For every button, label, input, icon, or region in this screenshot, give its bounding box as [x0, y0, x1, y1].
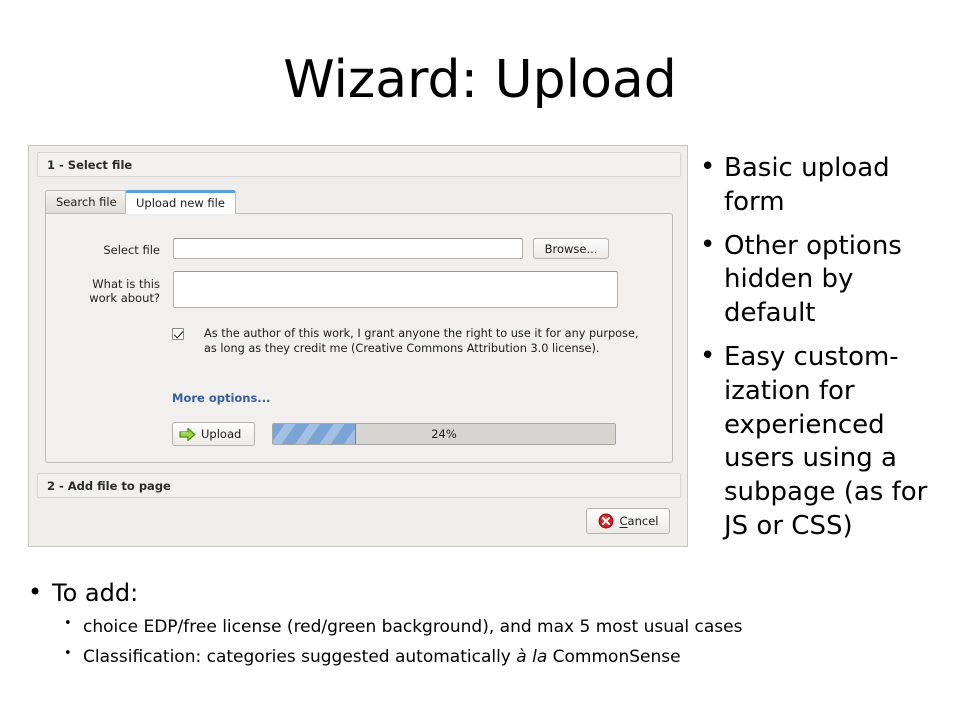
work-about-input[interactable]	[173, 271, 618, 308]
upload-wizard-dialog: 1 - Select file Search file Upload new f…	[28, 145, 688, 547]
more-options-link[interactable]: More options...	[172, 391, 270, 405]
select-file-row: Select file Browse...	[60, 238, 660, 259]
tab-upload-new-file[interactable]: Upload new file	[125, 190, 236, 214]
list-item: Other options hidden by default	[694, 230, 950, 331]
work-about-row: What is this work about?	[60, 271, 660, 308]
right-bullet-list: Basic upload form Other options hidden b…	[694, 152, 950, 554]
cancel-close-icon	[598, 513, 614, 529]
upload-button-label: Upload	[201, 427, 241, 441]
to-add-heading: To add:	[52, 579, 138, 607]
upload-row: Upload 24%	[172, 422, 616, 446]
to-add-sublist: choice EDP/free license (red/green backg…	[52, 616, 942, 669]
license-agreement-row: As the author of this work, I grant anyo…	[172, 326, 642, 356]
work-about-label-line2: work about?	[60, 291, 160, 305]
list-item: Easy custom-ization for experienced user…	[694, 341, 950, 544]
upload-new-file-panel: Select file Browse... What is this work …	[45, 213, 673, 463]
select-file-input[interactable]	[173, 238, 523, 259]
work-about-label-line1: What is this	[60, 277, 160, 291]
select-file-label: Select file	[60, 238, 160, 257]
list-item: Classification: categories suggested aut…	[52, 646, 942, 669]
cancel-button-label: Cancel	[620, 514, 659, 528]
upload-button[interactable]: Upload	[172, 422, 255, 446]
sub-item-1-italic: à la	[516, 647, 547, 667]
sub-item-1-pre: Classification: categories suggested aut…	[83, 647, 516, 667]
browse-button[interactable]: Browse...	[533, 238, 609, 259]
cancel-rest-letters: ancel	[628, 514, 659, 528]
license-checkbox[interactable]	[172, 328, 184, 340]
upload-arrow-icon	[179, 427, 196, 442]
list-item: choice EDP/free license (red/green backg…	[52, 616, 942, 639]
to-add-heading-item: To add: choice EDP/free license (red/gre…	[22, 578, 942, 669]
to-add-list: To add: choice EDP/free license (red/gre…	[22, 578, 942, 669]
list-item: Basic upload form	[694, 152, 950, 220]
tab-search-file[interactable]: Search file	[45, 190, 128, 214]
bottom-bullet-section: To add: choice EDP/free license (red/gre…	[22, 578, 942, 676]
work-about-label: What is this work about?	[60, 271, 160, 305]
sub-item-1-post: CommonSense	[547, 647, 680, 667]
cancel-accel-letter: C	[620, 514, 628, 528]
step-2-header: 2 - Add file to page	[37, 473, 681, 498]
upload-progress-bar: 24%	[272, 423, 616, 445]
upload-progress-label: 24%	[273, 424, 615, 444]
sub-item-0-pre: choice EDP/free license (red/green backg…	[83, 617, 742, 637]
page-title: Wizard: Upload	[0, 52, 960, 109]
tabstrip: Search file Upload new file	[45, 190, 673, 214]
cancel-button[interactable]: Cancel	[586, 508, 670, 534]
license-checkbox-label: As the author of this work, I grant anyo…	[204, 326, 642, 356]
step-1-header: 1 - Select file	[37, 152, 681, 177]
